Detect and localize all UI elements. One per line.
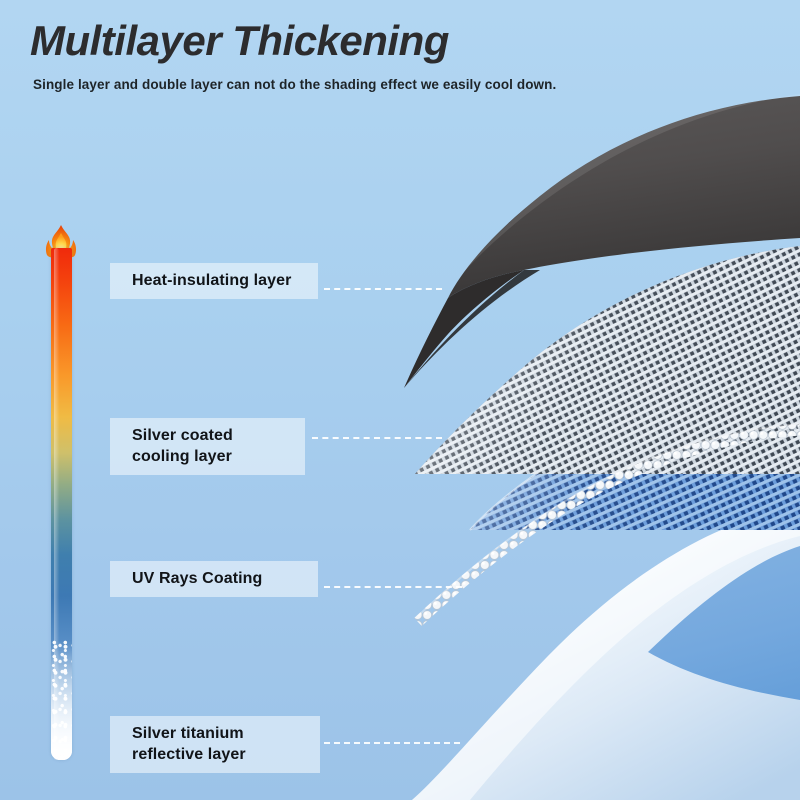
multilayer-fabric-illustration bbox=[0, 0, 800, 800]
callout-silver-coated-cooling-layer: Silver coated cooling layer bbox=[110, 418, 305, 475]
leader-line-uv-rays-coating bbox=[324, 586, 462, 588]
callout-silver-titanium-reflective-layer: Silver titanium reflective layer bbox=[110, 716, 320, 773]
header-block: Multilayer Thickening Single layer and d… bbox=[30, 18, 770, 92]
leader-line-heat-insulating-layer bbox=[324, 288, 442, 290]
reflective-sheet-layer bbox=[412, 506, 800, 800]
leader-line-silver-titanium-reflective-layer bbox=[324, 742, 460, 744]
callout-uv-rays-coating: UV Rays Coating bbox=[110, 561, 318, 597]
callout-heat-insulating-layer: Heat-insulating layer bbox=[110, 263, 318, 299]
page-subtitle: Single layer and double layer can not do… bbox=[33, 77, 770, 92]
leader-line-silver-coated-cooling-layer bbox=[312, 437, 442, 439]
product-infographic: Multilayer Thickening Single layer and d… bbox=[0, 0, 800, 800]
thermo-frost-tip bbox=[51, 640, 72, 760]
page-title: Multilayer Thickening bbox=[30, 18, 770, 63]
temperature-gradient-bar bbox=[51, 248, 72, 760]
